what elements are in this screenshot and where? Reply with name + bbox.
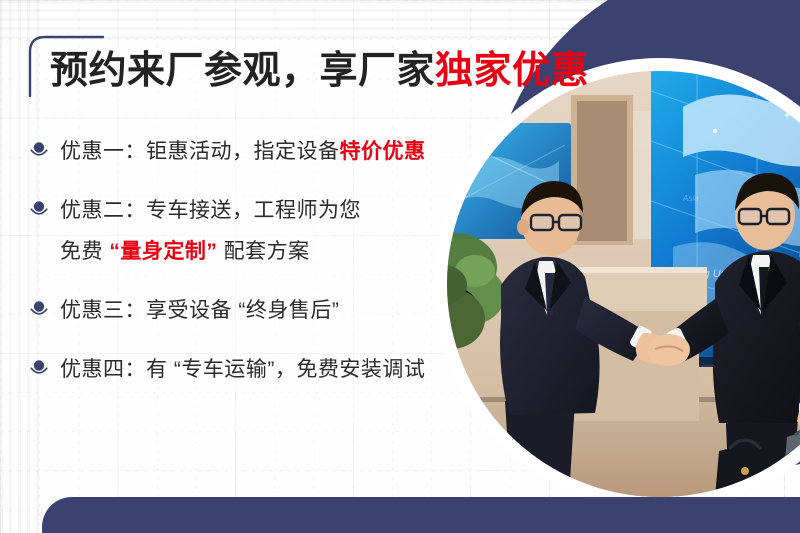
benefit-line2-plain: 免费 — [60, 240, 109, 263]
benefit-text: 优惠四：有 “专车运输”，免费安装调试 — [60, 350, 425, 391]
benefit-line2-suffix: 配套方案 — [217, 240, 309, 263]
bullet-dot-icon — [28, 139, 50, 161]
benefit-line1-plain: 钜惠活动，指定设备 — [146, 140, 340, 163]
benefit-line1-highlight: 特价优惠 — [340, 140, 426, 163]
benefit-line2-highlight: “量身定制” — [109, 240, 217, 263]
handshake-photo: ing United ted J Asia — [447, 71, 800, 497]
benefit-label: 优惠一： — [60, 140, 146, 163]
benefit-text: 优惠二：专车接送，工程师为您 免费 “量身定制” 配套方案 — [60, 191, 361, 273]
list-item: 优惠二：专车接送，工程师为您 免费 “量身定制” 配套方案 — [28, 191, 498, 273]
list-item: 优惠一：钜惠活动，指定设备特价优惠 — [28, 132, 498, 173]
benefit-list: 优惠一：钜惠活动，指定设备特价优惠 优惠二：专车接送，工程师为您 免费 “量身定… — [28, 132, 498, 409]
benefit-text: 优惠三：享受设备 “终身售后” — [60, 291, 339, 332]
benefit-line1-plain: 享受设备 “终身售后” — [146, 299, 339, 322]
handshake-photo-illustration: ing United ted J Asia — [447, 71, 800, 497]
bottom-navy-bar — [42, 497, 800, 533]
bullet-dot-icon — [28, 198, 50, 220]
benefit-label: 优惠二： — [60, 199, 146, 222]
promo-banner: ing United ted J Asia — [0, 0, 800, 533]
page-title: 预约来厂参观，享厂家独家优惠 — [50, 48, 589, 96]
benefit-label: 优惠四： — [60, 358, 146, 381]
bullet-dot-icon — [28, 298, 50, 320]
title-highlight: 独家优惠 — [435, 50, 589, 92]
list-item: 优惠三：享受设备 “终身售后” — [28, 291, 498, 332]
bullet-dot-icon — [28, 357, 50, 379]
benefit-line1-plain: 有 “专车运输”，免费安装调试 — [146, 358, 425, 381]
benefit-label: 优惠三： — [60, 299, 146, 322]
list-item: 优惠四：有 “专车运输”，免费安装调试 — [28, 350, 498, 391]
benefit-text: 优惠一：钜惠活动，指定设备特价优惠 — [60, 132, 426, 173]
benefit-line1-plain: 专车接送，工程师为您 — [146, 199, 361, 222]
benefit-line2: 免费 “量身定制” 配套方案 — [60, 232, 361, 273]
title-plain: 预约来厂参观，享厂家 — [50, 50, 435, 92]
svg-text:Asia: Asia — [682, 194, 699, 203]
